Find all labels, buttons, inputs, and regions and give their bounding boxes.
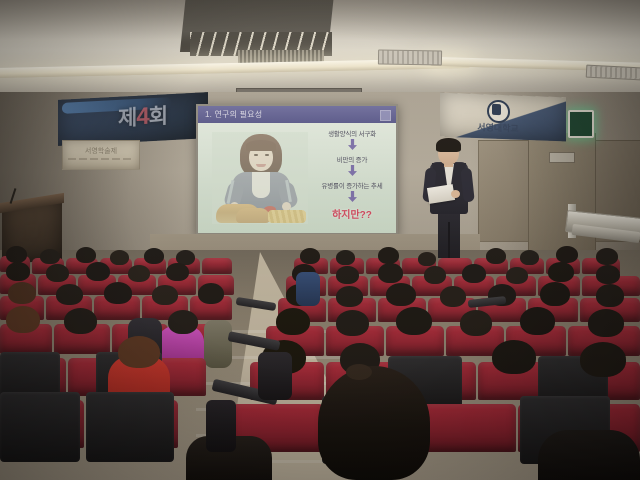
foreground-attendee-head	[538, 430, 640, 480]
bag	[206, 400, 236, 452]
attendee-head	[596, 284, 624, 307]
attendee-head	[118, 336, 160, 368]
seat-back	[86, 392, 174, 462]
seat	[202, 258, 232, 274]
attendee-head	[6, 306, 40, 333]
university-emblem-inner	[492, 104, 501, 115]
banner-suffix: 회	[149, 105, 167, 129]
attendee-head	[540, 282, 570, 306]
bag	[258, 352, 292, 400]
banner-number: 4	[136, 103, 148, 131]
arrow-down-icon	[348, 139, 357, 150]
photo-shirt	[252, 172, 270, 198]
olive-jacket-attendee	[204, 320, 232, 368]
attendee-head	[336, 266, 359, 284]
attendee-head	[596, 265, 620, 284]
attendee-head	[76, 247, 96, 263]
photo-fringe	[246, 140, 276, 151]
banner-prefix: 제	[118, 106, 136, 130]
attendee-head	[386, 283, 416, 306]
attendee-head	[8, 282, 36, 304]
attendee-head	[418, 252, 436, 266]
auditorium-photo: 제4회 서영학술제 서영대학교 1. 연구의 필요성	[0, 0, 640, 480]
attendee-head	[486, 248, 506, 264]
photo-eye	[254, 154, 258, 156]
attendee-head	[56, 284, 83, 305]
blue-jacket-attendee	[296, 272, 320, 306]
attendee-head	[46, 264, 69, 282]
attendee-head	[336, 286, 363, 307]
attendee-head	[336, 310, 369, 336]
slide-title: 1. 연구의 필요성	[205, 109, 262, 120]
fries-icon	[268, 210, 306, 223]
presenter-hair	[436, 138, 461, 152]
slide-photo	[212, 132, 308, 224]
attendee-head	[440, 286, 466, 307]
attendee-head	[378, 247, 399, 264]
burger-icon	[236, 208, 270, 223]
attendee-head	[580, 342, 626, 377]
presenter-leg-split	[448, 222, 450, 258]
arrow-down-icon	[348, 191, 357, 202]
attendee-head	[588, 309, 624, 337]
attendee-head	[378, 263, 403, 283]
flow-step-1: 생활양식의 서구화	[308, 128, 396, 138]
slide-logo-icon	[380, 110, 391, 121]
flow-conclusion: 하지만??	[308, 206, 396, 221]
attendee-head	[396, 307, 432, 335]
attendee-head	[6, 246, 27, 263]
banner-left-text: 제4회	[118, 98, 208, 137]
attendee-head	[168, 310, 198, 334]
flow-step-3: 유병률이 증가하는 추세	[308, 180, 396, 190]
attendee-head	[548, 262, 574, 282]
attendee-head	[128, 265, 150, 282]
banner-right-text: 서영대학교	[466, 120, 530, 135]
attendee-head	[144, 248, 164, 264]
attendee-head	[492, 340, 536, 374]
attendee-head	[198, 283, 224, 304]
attendee-head	[300, 248, 320, 264]
wall-poster-lines	[68, 158, 134, 160]
foreground-hair-part	[346, 364, 372, 380]
ceiling-vent	[378, 49, 442, 65]
attendee-head	[6, 262, 30, 281]
seat-back	[0, 392, 80, 462]
attendee-head	[166, 263, 189, 281]
attendee-head	[86, 262, 110, 281]
attendee-head	[520, 307, 555, 335]
attendee-head	[64, 308, 97, 334]
photo-eye	[265, 154, 269, 156]
attendee-head	[424, 266, 446, 284]
attendee-head	[520, 250, 539, 265]
attendee-head	[110, 250, 129, 265]
photo-mouth	[256, 164, 266, 167]
attendee-head	[556, 246, 578, 263]
attendee-head	[152, 285, 178, 305]
projection-screen: 1. 연구의 필요성 생활양식의 서구화	[198, 106, 396, 233]
attendee-head	[596, 248, 618, 265]
attendee-head	[462, 264, 486, 283]
attendee-head	[40, 249, 60, 264]
flow-step-2: 비만의 증가	[308, 154, 396, 164]
presenter-hand	[451, 190, 460, 198]
seat	[420, 404, 516, 452]
foreground-attendee-head	[318, 366, 430, 480]
slide-flow-diagram: 생활양식의 서구화 비만의 증가 유병률이 증가하는 추세 하지만??	[308, 128, 396, 224]
arrow-down-icon	[348, 165, 357, 176]
attendee-head	[276, 308, 310, 335]
emergency-exit-sign	[568, 110, 594, 138]
attendee-head	[506, 267, 528, 284]
wall-poster-title: 서영학술제	[72, 146, 130, 156]
attendee-head	[460, 310, 492, 336]
attendee-head	[336, 250, 355, 265]
attendee-head	[104, 282, 132, 304]
